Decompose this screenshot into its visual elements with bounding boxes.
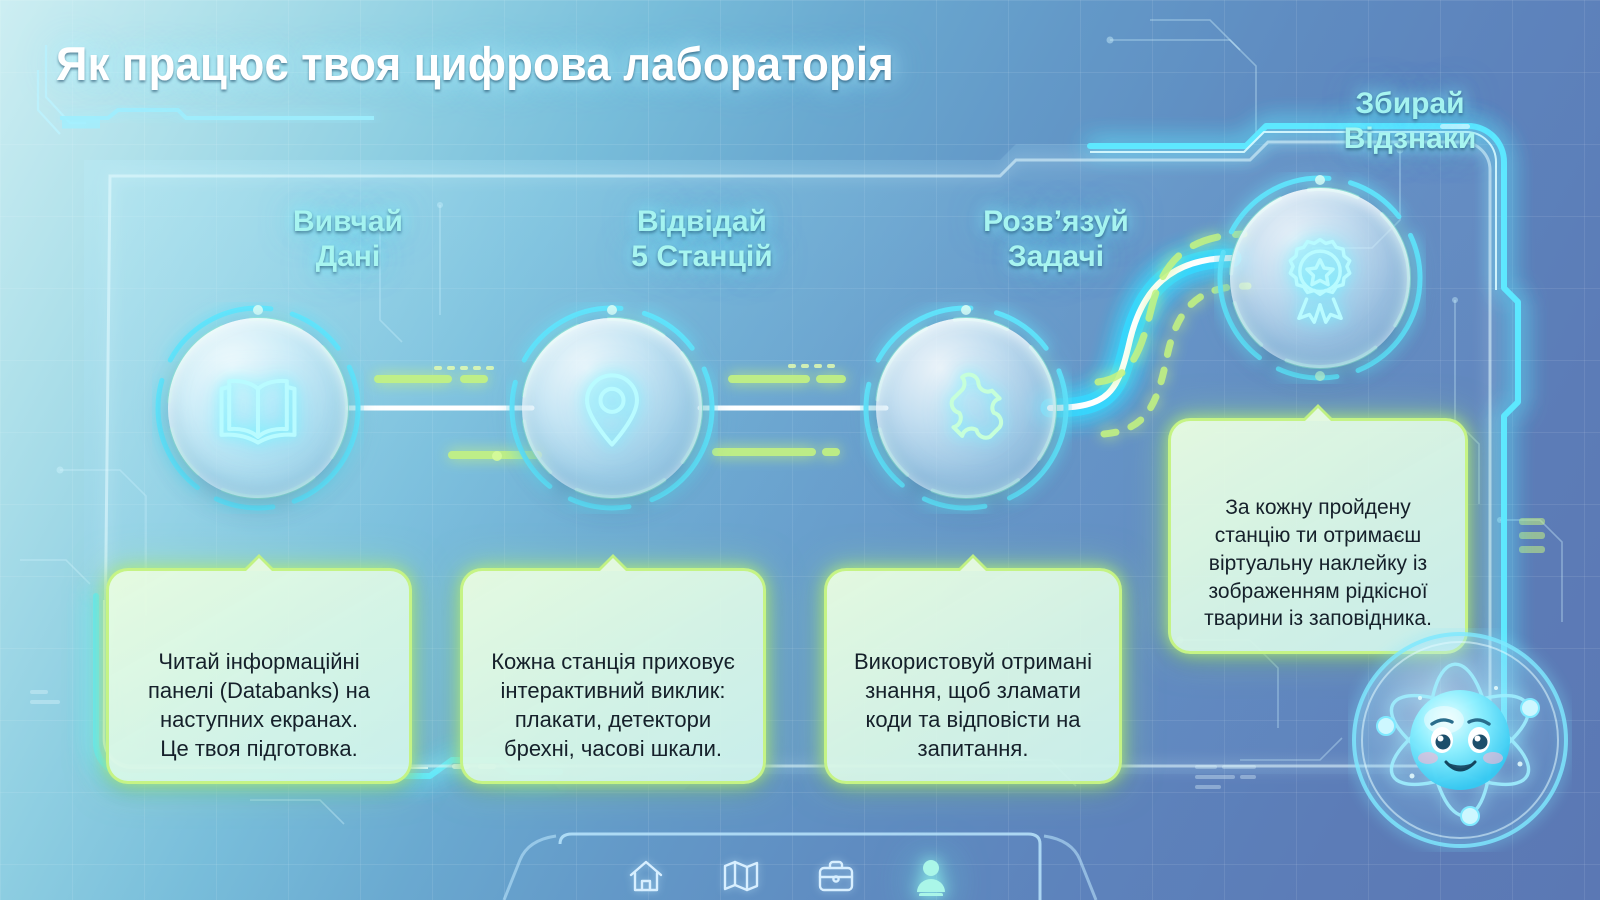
infographic-screen: Вивчай Дані Читай інформац <box>0 0 1600 900</box>
nav-item-map[interactable] <box>713 848 769 900</box>
callout-text: Кожна станція приховує інтерактивний вик… <box>491 649 735 761</box>
step-node[interactable] <box>876 318 1056 498</box>
callout-text: Читай інформаційні панелі (Databanks) на… <box>148 649 370 761</box>
step-label: Збирай Відзнаки <box>1260 86 1560 156</box>
callout-text: Використовуй отримані знання, щоб зламат… <box>854 649 1092 761</box>
bubble-tail <box>242 554 276 571</box>
atom-mascot[interactable] <box>1348 628 1572 852</box>
callout-text: За кожну пройдену станцію ти отримаєш ві… <box>1204 496 1432 630</box>
bottom-navigation[interactable] <box>560 838 1040 900</box>
nav-item-briefcase[interactable] <box>808 848 864 900</box>
puzzle-icon <box>876 318 1056 498</box>
map-icon <box>721 856 761 896</box>
map-pin-icon <box>522 318 702 498</box>
page-title: Як працює твоя цифрова лабораторія <box>56 36 894 91</box>
step-label: Вивчай Дані <box>198 204 498 274</box>
bubble-tail <box>596 554 630 571</box>
step-callout: Використовуй отримані знання, щоб зламат… <box>824 568 1122 784</box>
award-badge-icon <box>1230 188 1410 368</box>
person-icon <box>911 856 951 896</box>
step-node[interactable] <box>522 318 702 498</box>
step-label: Відвідай 5 Станцій <box>552 204 852 274</box>
nav-item-home[interactable] <box>618 848 674 900</box>
briefcase-icon <box>816 856 856 896</box>
step-callout: Кожна станція приховує інтерактивний вик… <box>460 568 766 784</box>
home-icon <box>626 856 666 896</box>
step-callout: Читай інформаційні панелі (Databanks) на… <box>106 568 412 784</box>
bubble-tail <box>956 554 990 571</box>
nav-item-profile[interactable] <box>903 848 959 900</box>
bubble-tail <box>1301 404 1335 421</box>
step-label: Розв’язуй Задачі <box>906 204 1206 274</box>
step-node[interactable] <box>168 318 348 498</box>
step-node[interactable] <box>1230 188 1410 368</box>
step-callout: За кожну пройдену станцію ти отримаєш ві… <box>1168 418 1468 654</box>
book-icon <box>168 318 348 498</box>
